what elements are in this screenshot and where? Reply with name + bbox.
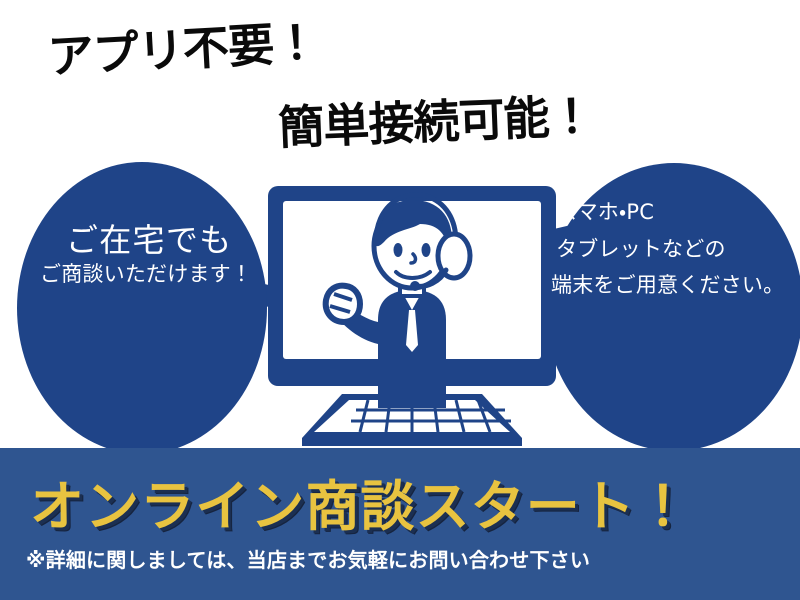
- left-bubble-line-1: ご在宅でも: [66, 215, 232, 261]
- headline-primary: アプリ不要！: [46, 6, 320, 87]
- left-speech-bubble: [17, 162, 267, 454]
- right-bubble-line-1: スマホ・PC: [556, 196, 654, 226]
- promo-poster: アプリ不要！ 簡単接続可能！ ご在宅でも ご商談いただけます！ スマホ・PC タ…: [0, 0, 800, 600]
- banner-title: オンライン商談スタート！: [30, 462, 691, 541]
- banner-note: ※詳細に関しましては、当店までお気軽にお問い合わせ下さい: [26, 544, 590, 573]
- left-bubble-line-2: ご商談いただけます！: [40, 258, 252, 288]
- right-bubble-line-2: タブレットなどの: [556, 233, 726, 263]
- bottom-banner: オンライン商談スタート！ ※詳細に関しましては、当店までお気軽にお問い合わせ下さ…: [0, 448, 800, 600]
- headline-secondary: 簡単接続可能！: [277, 80, 595, 158]
- right-bubble-line-3: 端末をご用意ください。: [551, 269, 784, 299]
- online-meeting-illustration: [250, 170, 570, 450]
